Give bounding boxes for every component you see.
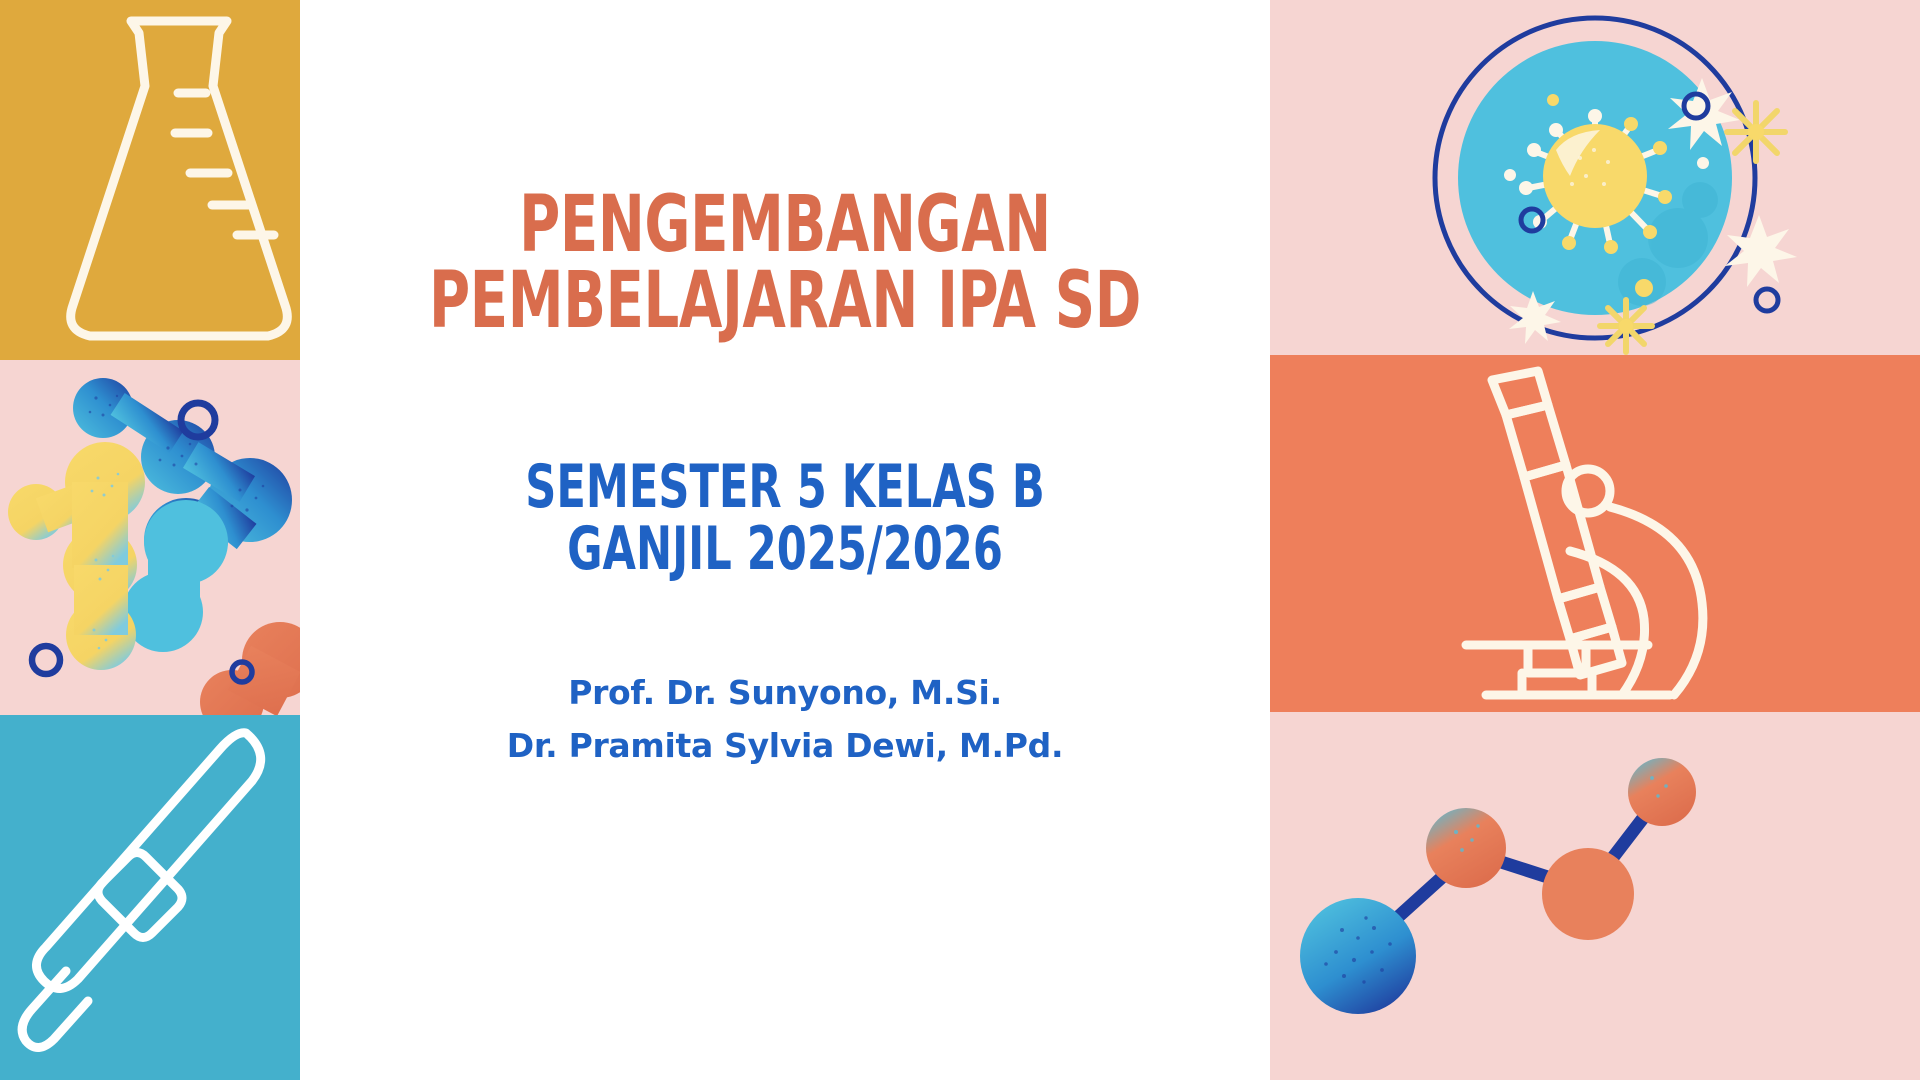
author-name-1: Prof. Dr. Sunyono, M.Si.	[300, 666, 1270, 719]
presentation-slide: PENGEMBANGAN PEMBELAJARAN IPA SD SEMESTE…	[0, 0, 1920, 1080]
ring-icon	[32, 646, 60, 674]
petri-dish-panel	[1270, 0, 1920, 355]
thermometer-panel	[0, 715, 300, 1080]
microscope-icon	[1270, 355, 1920, 712]
microscope-panel	[1270, 355, 1920, 712]
thermometer-icon	[0, 715, 300, 1080]
title-line-2: PEMBELAJARAN IPA SD	[397, 264, 1173, 340]
petri-dish-icon	[1270, 0, 1920, 355]
erlenmeyer-flask-panel	[0, 0, 300, 360]
page-title: PENGEMBANGAN PEMBELAJARAN IPA SD	[300, 188, 1270, 339]
author-name-2: Dr. Pramita Sylvia Dewi, M.Pd.	[300, 719, 1270, 772]
flask-icon	[0, 0, 300, 360]
ring-icon	[1756, 289, 1778, 311]
left-decoration-strip	[0, 0, 300, 1080]
molecule-panel-right	[1270, 712, 1920, 1080]
author-list: Prof. Dr. Sunyono, M.Si. Dr. Pramita Syl…	[300, 666, 1270, 773]
subtitle-line-2: GANJIL 2025/2026	[397, 519, 1173, 581]
right-decoration-strip	[1270, 0, 1920, 1080]
molecule-panel-left	[0, 360, 300, 715]
molecule-icon	[0, 360, 300, 715]
molecule-icon	[1270, 712, 1920, 1080]
slide-content: PENGEMBANGAN PEMBELAJARAN IPA SD SEMESTE…	[300, 0, 1270, 1080]
subtitle-line-1: SEMESTER 5 KELAS B	[397, 457, 1173, 519]
title-line-1: PENGEMBANGAN	[397, 188, 1173, 264]
subtitle: SEMESTER 5 KELAS B GANJIL 2025/2026	[300, 457, 1270, 581]
